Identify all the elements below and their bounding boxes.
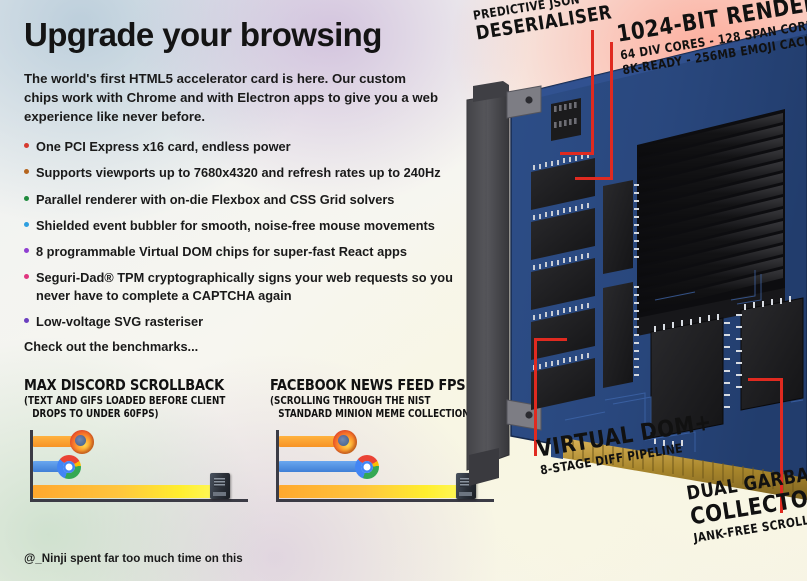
pin-header (551, 98, 581, 141)
feature-text: 8 programmable Virtual DOM chips for sup… (36, 244, 407, 259)
benchmarks-lead-in: Check out the benchmarks... (24, 339, 474, 354)
page-title: Upgrade your browsing (24, 18, 474, 53)
chart-plot-area (24, 430, 248, 507)
bullet-dot-icon (24, 248, 29, 253)
bullet-dot-icon (24, 169, 29, 174)
feature-text: Low-voltage SVG rasteriser (36, 314, 203, 329)
intro-paragraph: The world's first HTML5 accelerator card… (24, 69, 444, 126)
chart-subtitle-line1: (SCROLLING THROUGH THE NIST (270, 395, 476, 407)
bullet-dot-icon (24, 143, 29, 148)
bullet-dot-icon (24, 318, 29, 323)
list-item: Supports viewports up to 7680x4320 and r… (24, 164, 464, 181)
io-bracket (467, 81, 509, 486)
left-content-column: Upgrade your browsing The world's first … (24, 18, 474, 354)
chrome-logo-icon (57, 455, 81, 479)
list-item: 8 programmable Virtual DOM chips for sup… (24, 243, 464, 260)
chart-x-axis (30, 499, 248, 502)
feature-text: Shielded event bubbler for smooth, noise… (36, 218, 435, 233)
firefox-logo-icon (333, 430, 357, 454)
bullet-dot-icon (24, 222, 29, 227)
bullet-dot-icon (24, 196, 29, 201)
bar-accelerator-card (279, 485, 467, 498)
bar-chrome (279, 461, 363, 472)
leader-line-deserialiser-v (591, 30, 594, 155)
processor-chip-right (736, 296, 803, 410)
chart-subtitle-line2: STANDARD MINION MEME COLLECTION) (270, 408, 476, 420)
feature-text: Parallel renderer with on-die Flexbox an… (36, 192, 394, 207)
leader-line-renderer-v (610, 42, 613, 180)
chrome-logo-icon (355, 455, 379, 479)
list-item: Shielded event bubbler for smooth, noise… (24, 217, 464, 234)
bracket-mount-top (507, 86, 541, 118)
list-item: Parallel renderer with on-die Flexbox an… (24, 191, 464, 208)
feature-text: Seguri-Dad® TPM cryptographically signs … (36, 270, 453, 302)
list-item: Seguri-Dad® TPM cryptographically signs … (24, 269, 464, 304)
bullet-dot-icon (24, 274, 29, 279)
bar-firefox (279, 436, 341, 447)
chart-title: FACEBOOK NEWS FEED FPS (270, 376, 478, 394)
leader-line-vdom-h (534, 338, 567, 341)
list-item: Low-voltage SVG rasteriser (24, 313, 464, 330)
list-item: One PCI Express x16 card, endless power (24, 138, 464, 155)
benchmark-chart-discord: MAX DISCORD SCROLLBACK (TEXT AND GIFS LO… (24, 376, 248, 507)
accelerator-card-icon (210, 473, 230, 499)
memory-chips (531, 153, 595, 410)
chart-subtitle-line1: (TEXT AND GIFS LOADED BEFORE CLIENT (24, 395, 230, 407)
feature-text: One PCI Express x16 card, endless power (36, 139, 291, 154)
chart-subtitle-line2: DROPS TO UNDER 60FPS) (24, 408, 230, 420)
bar-accelerator-card (33, 485, 221, 498)
infographic-poster: Upgrade your browsing The world's first … (0, 0, 807, 581)
leader-line-renderer-h (575, 177, 613, 180)
feature-text: Supports viewports up to 7680x4320 and r… (36, 165, 441, 180)
leader-line-deserialiser-h (560, 152, 593, 155)
firefox-logo-icon (70, 430, 94, 454)
benchmark-charts: MAX DISCORD SCROLLBACK (TEXT AND GIFS LO… (24, 376, 494, 507)
leader-line-garbage-h (748, 378, 782, 381)
feature-list: One PCI Express x16 card, endless power … (24, 138, 474, 330)
chart-title: MAX DISCORD SCROLLBACK (24, 376, 232, 394)
author-credit: @_Ninji spent far too much time on this (24, 552, 243, 565)
